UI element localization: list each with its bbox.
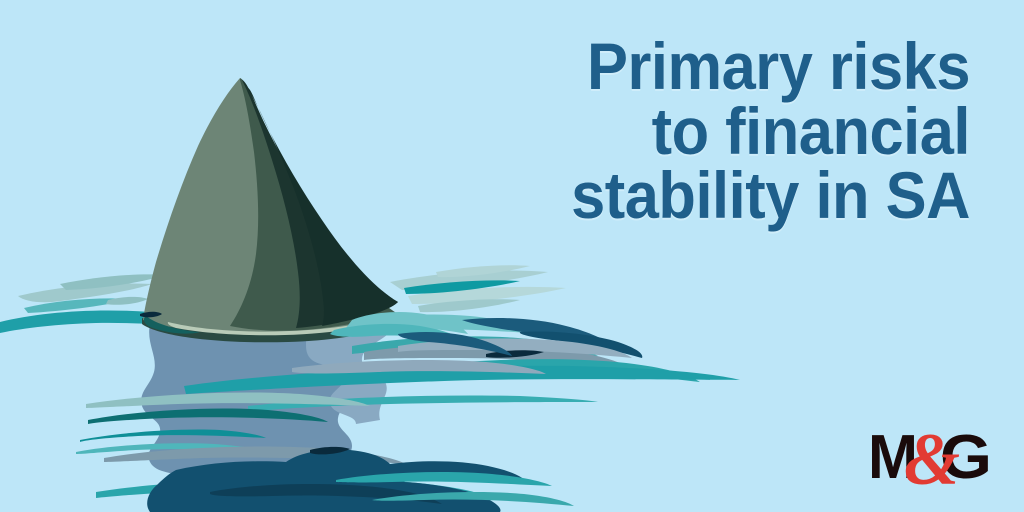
headline-line-3: stability in SA (486, 163, 970, 228)
mg-logo[interactable]: M G & (868, 424, 1008, 492)
headline-line-1: Primary risks (486, 34, 970, 99)
headline-line-2: to financial (486, 99, 970, 164)
page-title: Primary risks to financial stability in … (450, 34, 970, 228)
banner: Primary risks to financial stability in … (0, 0, 1024, 512)
mg-logo-mark: M G & (868, 424, 1008, 492)
logo-ampersand: & (904, 424, 960, 492)
